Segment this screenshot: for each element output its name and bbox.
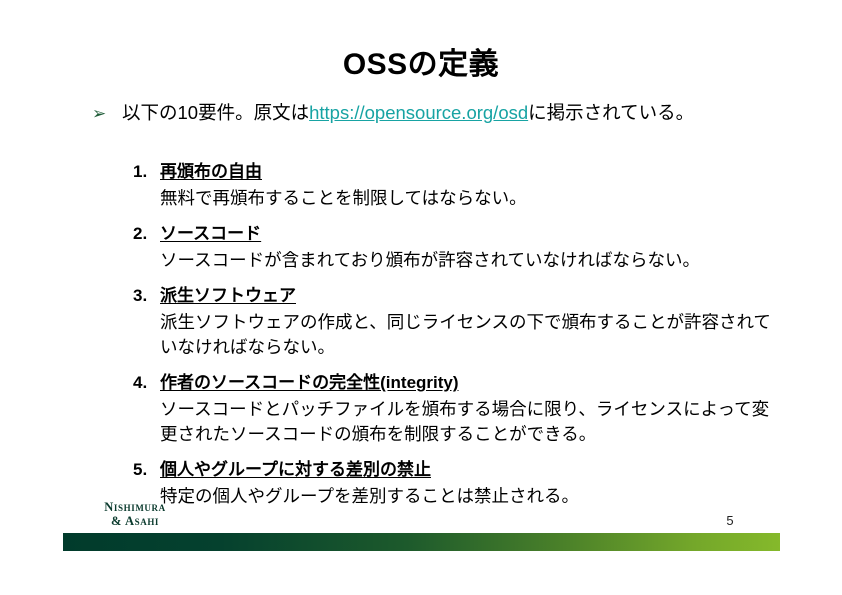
requirement-description: 派生ソフトウェアの作成と、同じライセンスの下で頒布することが許容されていなければ… — [160, 310, 773, 360]
footer-gradient-bar — [63, 533, 780, 551]
requirement-heading: 3. 派生ソフトウェア — [133, 284, 773, 308]
list-item: 1. 再頒布の自由 無料で再頒布することを制限してはならない。 — [133, 160, 773, 211]
logo-line-1: Nishimura — [104, 500, 165, 514]
page-number: 5 — [700, 513, 760, 528]
requirement-description: 無料で再頒布することを制限してはならない。 — [160, 186, 773, 211]
requirement-number: 3. — [133, 284, 160, 308]
company-logo: Nishimura & Asahi — [72, 500, 198, 528]
requirement-heading: 1. 再頒布の自由 — [133, 160, 773, 184]
list-item: 5. 個人やグループに対する差別の禁止 特定の個人やグループを差別することは禁止… — [133, 458, 773, 509]
requirement-number: 2. — [133, 222, 160, 246]
requirement-number: 5. — [133, 458, 160, 482]
arrow-bullet-icon: ➢ — [92, 100, 122, 126]
logo-line-2: & Asahi — [72, 514, 198, 528]
list-item: 3. 派生ソフトウェア 派生ソフトウェアの作成と、同じライセンスの下で頒布するこ… — [133, 284, 773, 360]
requirement-description: ソースコードとパッチファイルを頒布する場合に限り、ライセンスによって変更されたソ… — [160, 397, 773, 447]
requirement-title: 作者のソースコードの完全性(integrity) — [160, 371, 459, 395]
requirement-heading: 5. 個人やグループに対する差別の禁止 — [133, 458, 773, 482]
requirement-heading: 4. 作者のソースコードの完全性(integrity) — [133, 371, 773, 395]
intro-text: 以下の10要件。原文はhttps://opensource.org/osdに掲示… — [122, 100, 772, 126]
intro-text-after: に掲示されている。 — [528, 102, 694, 123]
requirement-number: 1. — [133, 160, 160, 184]
list-item: 4. 作者のソースコードの完全性(integrity) ソースコードとパッチファ… — [133, 371, 773, 447]
requirement-description: 特定の個人やグループを差別することは禁止される。 — [160, 484, 773, 509]
requirement-title: 個人やグループに対する差別の禁止 — [160, 458, 431, 482]
requirement-title: ソースコード — [160, 222, 261, 246]
list-item: 2. ソースコード ソースコードが含まれており頒布が許容されていなければならない… — [133, 222, 773, 273]
intro-text-before: 以下の10要件。原文は — [122, 102, 309, 123]
page-title: OSSの定義 — [0, 48, 842, 81]
requirement-heading: 2. ソースコード — [133, 222, 773, 246]
requirement-description: ソースコードが含まれており頒布が許容されていなければならない。 — [160, 248, 773, 273]
intro-bullet-row: ➢ 以下の10要件。原文はhttps://opensource.org/osdに… — [92, 100, 772, 126]
requirement-title: 派生ソフトウェア — [160, 284, 296, 308]
presentation-slide: OSSの定義 ➢ 以下の10要件。原文はhttps://opensource.o… — [0, 0, 842, 595]
osd-specification-link[interactable]: https://opensource.org/osd — [309, 102, 528, 123]
requirement-number: 4. — [133, 371, 160, 395]
requirement-title: 再頒布の自由 — [160, 160, 262, 184]
requirements-list: 1. 再頒布の自由 無料で再頒布することを制限してはならない。 2. ソースコー… — [133, 160, 773, 520]
